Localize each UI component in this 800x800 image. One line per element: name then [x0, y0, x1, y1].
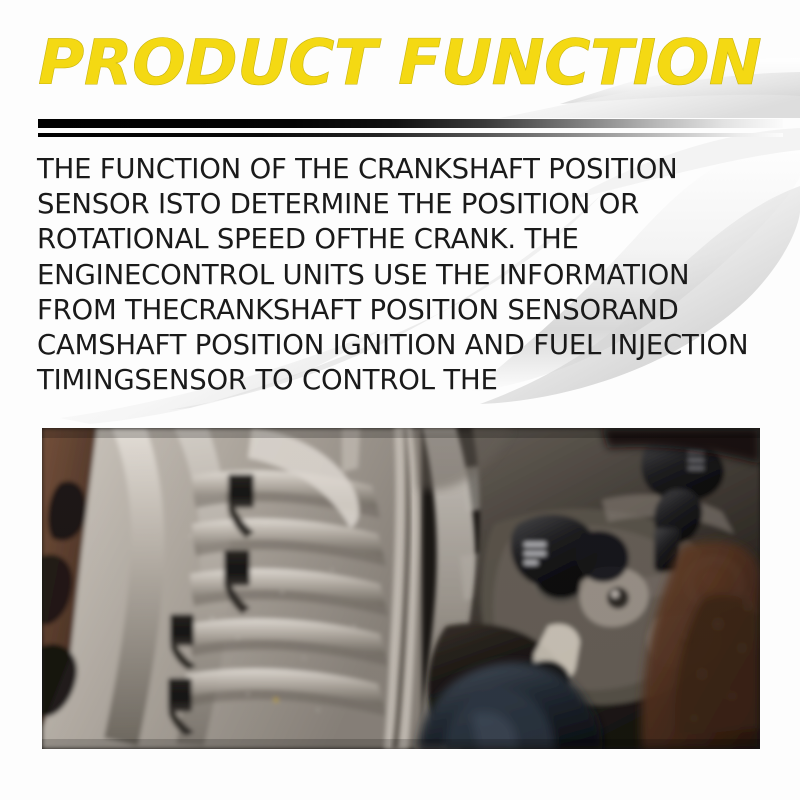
engine-bay-photo-illustration	[42, 428, 760, 749]
product-function-infographic: PRODUCT FUNCTION THE FUNCTION OF THE CRA…	[0, 0, 800, 800]
description-paragraph: THE FUNCTION OF THE CRANKSHAFT POSITION …	[37, 152, 767, 398]
divider-bar-thick	[38, 119, 783, 128]
page-title: PRODUCT FUNCTION	[38, 26, 761, 100]
divider-bar-thin	[38, 133, 783, 137]
product-photo	[42, 428, 760, 749]
header-block: PRODUCT FUNCTION	[0, 26, 800, 108]
